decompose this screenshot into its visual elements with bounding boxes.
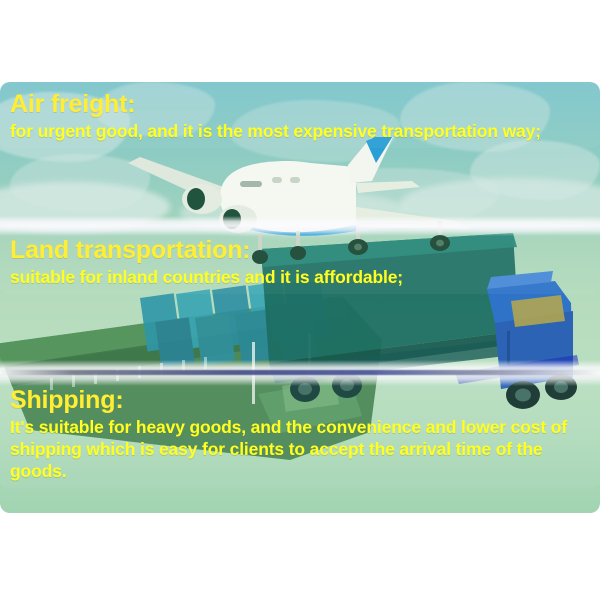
logistics-banner: Air freight: for urgent good, and it is … [0,82,600,513]
land-transportation-body: suitable for inland countries and it is … [10,266,590,288]
page-canvas: Air freight: for urgent good, and it is … [0,0,600,600]
shipping-heading: Shipping: [10,386,590,415]
air-freight-body: for urgent good, and it is the most expe… [10,120,590,142]
shipping-body: It's suitable for heavy goods, and the c… [10,416,590,482]
section-land-transportation: Land transportation: suitable for inland… [0,228,600,294]
section-shipping: Shipping: It's suitable for heavy goods,… [0,378,600,488]
section-air-freight: Air freight: for urgent good, and it is … [0,82,600,148]
air-freight-heading: Air freight: [10,90,590,119]
waterline-accent [0,370,600,375]
land-transportation-heading: Land transportation: [10,236,590,265]
